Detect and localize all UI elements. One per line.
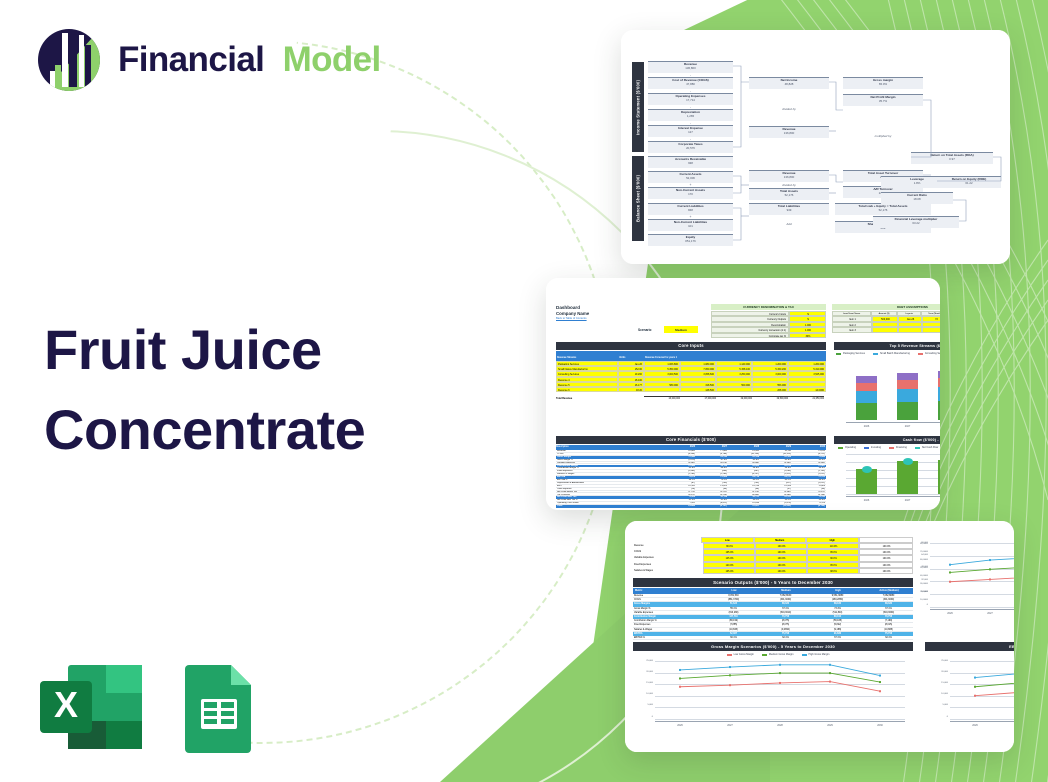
screenshot-card-dashboard[interactable]: Dashboard Company Name Back to Table of … xyxy=(546,278,940,510)
legend-label: Consulting Services xyxy=(925,352,940,355)
legend-swatch xyxy=(762,654,767,656)
y-tick-label: 20,000 xyxy=(928,671,948,673)
file-format-icons: X xyxy=(36,661,255,753)
legend-label: Small Batch Manufacturing xyxy=(880,352,910,355)
y-tick-label: 0 xyxy=(908,604,928,606)
brand-lockup: Financial Model xyxy=(36,27,381,93)
bar-segment xyxy=(897,402,918,420)
x-tick-label: 2028 xyxy=(940,425,941,428)
y-tick-label: 0 xyxy=(928,716,948,718)
x-tick-label: 2026 xyxy=(966,724,984,727)
y-tick-label: 20,000 xyxy=(633,671,653,673)
table-cell: 62.1% xyxy=(863,636,913,640)
x-tick-label: 2027 xyxy=(899,425,917,428)
total-row: Total Revenue16,000,00017,000,00019,000,… xyxy=(556,396,826,401)
cashflow-legend: OperatingInvestingFinancingNet Cash Flow xyxy=(838,446,940,449)
scenario-trend-plot: 80,00064,00048,00032,00016,0000202620272… xyxy=(930,543,1014,615)
legend-label: Packaging Services xyxy=(843,352,865,355)
bar-segment xyxy=(856,403,877,420)
screenshot-card-scenario-analysis[interactable]: LowMediumHighRevenue80.0%100.0%110.0%100… xyxy=(625,521,1014,752)
table-cell: 18.20 xyxy=(618,387,644,392)
series-lines xyxy=(950,661,1014,727)
y-tick-label: 80,0000 xyxy=(904,543,928,545)
total-label: Total Revenue xyxy=(556,396,644,401)
table-cell: (8,108) xyxy=(792,505,826,508)
legend-item: Consulting Services xyxy=(918,352,940,355)
ebitda-plot: 25,00020,00015,00010,0005,00002026202720… xyxy=(950,661,1014,727)
table-row: Corporate tax %30% xyxy=(711,333,826,338)
legend-swatch xyxy=(873,353,878,355)
table-cell: Salaries & Wages xyxy=(633,568,703,574)
excel-icon[interactable]: X xyxy=(36,661,146,753)
bar-segment xyxy=(897,373,918,380)
legend-item: Medium Gross Margin xyxy=(762,653,794,656)
value-marker xyxy=(903,458,913,465)
x-tick-label: 2026 xyxy=(671,724,689,727)
dupont-connectors xyxy=(621,30,1010,264)
table-cell: Corporate tax % xyxy=(711,333,789,338)
core-inputs-header: Core Inputs xyxy=(556,342,826,350)
core-financials-header: Core Financials ($'000) xyxy=(556,436,826,444)
revenue-streams-plot: 20262027202820292030 xyxy=(846,366,940,428)
page-title: Fruit Juice Concentrate xyxy=(44,310,474,469)
legend-swatch xyxy=(918,353,923,355)
legend-item: Small Batch Manufacturing xyxy=(873,352,910,355)
bar-segment xyxy=(856,376,877,382)
table-cell: EBITDA % xyxy=(633,636,707,640)
x-tick-label: 2026 xyxy=(858,499,876,502)
bar-segment xyxy=(938,371,940,378)
bar xyxy=(897,461,918,494)
total-value: 19,000,000 xyxy=(716,396,752,401)
scenario-outputs-header: Scenario Outputs ($'000) - 5 Years to De… xyxy=(633,578,913,587)
brand-word-financial: Financial xyxy=(118,40,264,79)
table-cell: (8,101) xyxy=(696,505,728,508)
back-to-contents-link[interactable]: Back to Table of Contents xyxy=(556,317,587,320)
series-lines xyxy=(930,543,1014,615)
x-tick-label: 2028 xyxy=(940,499,941,502)
gross-margin-legend: Low Gross MarginMedium Gross MarginHigh … xyxy=(665,653,895,656)
legend-swatch xyxy=(727,654,732,656)
y-tick-label: 5,000 xyxy=(633,704,653,706)
gross-margin-plot: 25,00020,00015,00010,0005,00002026202720… xyxy=(655,661,905,727)
scenario-sheet: LowMediumHighRevenue80.0%100.0%110.0%100… xyxy=(625,521,1014,752)
table-cell: 62.1% xyxy=(759,636,811,640)
table-row: Item 3 xyxy=(832,327,940,332)
value-marker xyxy=(862,466,872,473)
cashflow-chart-title: Cash flow ($'000) - 5 Years to December … xyxy=(834,436,940,444)
y-tick-label: 10,0000 xyxy=(904,599,928,601)
cashflow-plot: 20262027202820292030 xyxy=(846,454,940,502)
x-tick-label: 2027 xyxy=(981,612,999,615)
legend-item: Investing xyxy=(864,446,881,449)
legend-swatch xyxy=(836,353,841,355)
table-cell: Cash xyxy=(556,505,664,508)
y-tick-label: 60,0000 xyxy=(904,559,928,561)
table-cell: Revenue 6 xyxy=(556,387,618,392)
dashboard-title: Dashboard xyxy=(556,305,580,310)
table-cell xyxy=(872,327,898,332)
legend-item: Net Cash Flow xyxy=(915,446,938,449)
bar-segment xyxy=(938,401,940,420)
table-cell: 67.1% xyxy=(811,636,863,640)
total-value: 21,050,000 xyxy=(788,396,824,401)
legend-item: Financing xyxy=(889,446,907,449)
x-tick-label: 2027 xyxy=(899,499,917,502)
table-cell xyxy=(644,387,680,392)
brand-name: Financial Model xyxy=(118,40,381,80)
table-cell xyxy=(922,327,940,332)
y-tick-label: 40,0000 xyxy=(904,575,928,577)
table-cell: 105.0% xyxy=(703,568,755,574)
bar-segment xyxy=(897,380,918,389)
total-value: 17,000,000 xyxy=(680,396,716,401)
x-tick-label: 2030 xyxy=(871,724,889,727)
bar-segment xyxy=(938,387,940,401)
bar-segment xyxy=(856,391,877,403)
legend-item: High Gross Margin xyxy=(802,653,830,656)
bar xyxy=(938,460,940,494)
y-tick-label: 15,000 xyxy=(633,682,653,684)
y-tick-label: 50,0000 xyxy=(904,567,928,569)
page-title-line-2: Concentrate xyxy=(44,390,474,470)
x-tick-label: 2028 xyxy=(771,724,789,727)
x-tick-label: 2027 xyxy=(721,724,739,727)
legend-swatch xyxy=(838,447,843,449)
table-cell: 14,0000 xyxy=(788,387,826,392)
table-row: Salaries & Wages105.0%100.0%98.0%100.0% xyxy=(633,568,913,574)
y-tick-label: 5,000 xyxy=(928,704,948,706)
legend-swatch xyxy=(802,654,807,656)
dupont-sheet: Income Statement ($'000) Balance Sheet (… xyxy=(621,30,1010,264)
revenue-streams-legend: Packaging ServicesSmall Batch Manufactur… xyxy=(836,352,940,355)
brand-word-model: Model xyxy=(283,40,381,79)
table-cell: 100.0% xyxy=(755,568,807,574)
y-tick-label: 25,000 xyxy=(928,660,948,662)
legend-label: Medium Gross Margin xyxy=(769,653,794,656)
x-tick-label: 2026 xyxy=(941,612,959,615)
series-lines xyxy=(655,661,905,727)
screenshot-card-dupont-analysis[interactable]: Income Statement ($'000) Balance Sheet (… xyxy=(621,30,1010,264)
legend-label: Financing xyxy=(896,446,907,449)
table-cell: 30% xyxy=(789,333,826,338)
legend-label: Net Cash Flow xyxy=(922,446,938,449)
circle-bar-chart-logo-icon xyxy=(36,27,102,93)
page-title-line-1: Fruit Juice xyxy=(44,310,474,390)
legend-swatch xyxy=(915,447,920,449)
svg-text:X: X xyxy=(54,684,78,725)
panel-header-currency: CURRENCY DENOMINATION & TAX xyxy=(711,304,826,310)
y-tick-label: 70,0000 xyxy=(904,551,928,553)
table-cell: 8,6448 xyxy=(664,505,696,508)
table-row: Revenue 618.20148,500268,00014,0000 xyxy=(556,387,826,392)
google-sheets-icon[interactable] xyxy=(183,661,255,753)
y-tick-label: 32,000 xyxy=(908,579,928,581)
legend-item: Packaging Services xyxy=(836,352,865,355)
legend-item: Operating xyxy=(838,446,856,449)
y-tick-label: 25,000 xyxy=(633,660,653,662)
table-cell: 10,431 xyxy=(728,505,760,508)
panel-header-debt: DEBT ASSUMPTIONS xyxy=(832,304,940,310)
y-tick-label: 64,000 xyxy=(908,554,928,556)
x-tick-label: 2026 xyxy=(858,425,876,428)
dashboard-sheet: Dashboard Company Name Back to Table of … xyxy=(546,278,940,510)
y-tick-label: 10,000 xyxy=(633,693,653,695)
table-row: Cash8,6448(8,101)10,431(10,852)(8,108) xyxy=(556,505,826,508)
table-cell: 98.0% xyxy=(807,568,859,574)
bar-segment xyxy=(897,389,918,402)
legend-item: Low Gross Margin xyxy=(727,653,754,656)
legend-swatch xyxy=(864,447,869,449)
scenario-value-dropdown[interactable]: Medium xyxy=(664,326,698,333)
legend-swatch xyxy=(889,447,894,449)
ebitda-legend: Low EBITDAMedium EBITDAHigh EBITDA xyxy=(960,653,1014,656)
legend-label: High Gross Margin xyxy=(809,653,830,656)
bar-segment xyxy=(856,383,877,391)
poster-canvas: Financial Model Fruit Juice Concentrate … xyxy=(0,0,1048,782)
table-cell: 268,000 xyxy=(752,387,788,392)
legend-label: Low Gross Margin xyxy=(734,653,754,656)
total-value: 16,000,000 xyxy=(644,396,680,401)
table-cell xyxy=(898,327,922,332)
legend-label: Operating xyxy=(845,446,856,449)
table-cell: (10,852) xyxy=(760,505,792,508)
scenario-label: Scenario xyxy=(638,328,651,332)
table-cell: 148,500 xyxy=(680,387,716,392)
y-tick-label: 10,000 xyxy=(928,693,948,695)
x-tick-label: 2029 xyxy=(821,724,839,727)
y-tick-label: 15,000 xyxy=(928,682,948,684)
y-tick-label: 30,0000 xyxy=(904,583,928,585)
table-cell xyxy=(716,387,752,392)
dashboard-subtitle: Company Name xyxy=(556,311,589,316)
gross-margin-scenarios-title: Gross Margin Scenarios ($'000) - 5 Years… xyxy=(633,642,913,651)
table-row: EBITDA %60.1%62.1%67.1%62.1% xyxy=(633,636,913,640)
y-tick-label: 20,0000 xyxy=(904,591,928,593)
table-cell: 60.1% xyxy=(707,636,759,640)
legend-label: Investing xyxy=(871,446,881,449)
table-cell: Item 3 xyxy=(832,327,872,332)
total-value: 19,500,000 xyxy=(752,396,788,401)
y-tick-label: 0 xyxy=(633,716,653,718)
revenue-streams-chart-title: Top 5 Revenue Streams ($'000) - 5 Years … xyxy=(834,342,940,350)
bar-segment xyxy=(938,378,940,387)
ebitda-scenarios-title: EBITDA Scenarios ($'000) - 5 Years to De… xyxy=(925,642,1014,651)
